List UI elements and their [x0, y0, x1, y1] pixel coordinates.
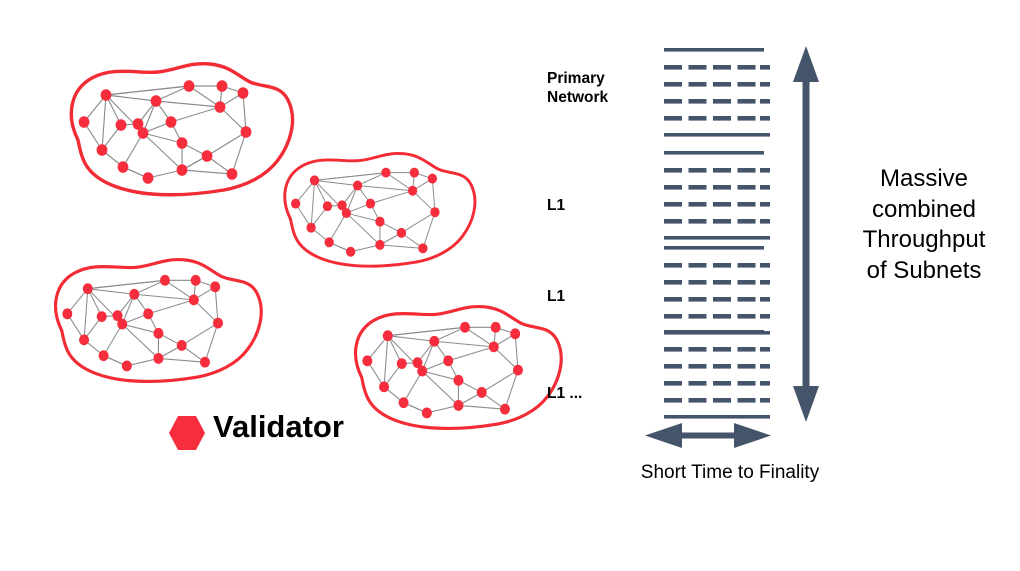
- ladder-label-l1-c: L1 ...: [547, 384, 582, 403]
- ladder-block-primary-network[interactable]: [664, 48, 770, 137]
- ladder-label-l1-a: L1: [547, 196, 565, 215]
- finality-arrow: [645, 423, 771, 448]
- ladder-block-l1-c[interactable]: [664, 330, 770, 419]
- ladder-stack: [664, 48, 770, 419]
- subnet-top-left[interactable]: [71, 64, 292, 195]
- subnet-group: [56, 64, 562, 429]
- ladder-block-l1-a[interactable]: [664, 151, 770, 240]
- diagram-canvas: Validator Primary Network L1 L1 L1 ... M…: [0, 0, 1020, 571]
- ladder-label-l1-b: L1: [547, 287, 565, 306]
- subnet-top-right[interactable]: [285, 153, 475, 266]
- validator-hexagon-icon: [168, 415, 206, 451]
- throughput-annotation: Massive combined Throughput of Subnets: [836, 164, 1012, 287]
- subnet-bottom-right[interactable]: [356, 307, 562, 429]
- validator-legend-label: Validator: [213, 409, 344, 445]
- subnet-bottom-left[interactable]: [56, 260, 262, 382]
- ladder-label-primary-network: Primary Network: [547, 69, 608, 108]
- finality-annotation: Short Time to Finality: [600, 462, 860, 484]
- throughput-arrow: [793, 46, 819, 422]
- ladder-block-l1-b[interactable]: [664, 246, 770, 335]
